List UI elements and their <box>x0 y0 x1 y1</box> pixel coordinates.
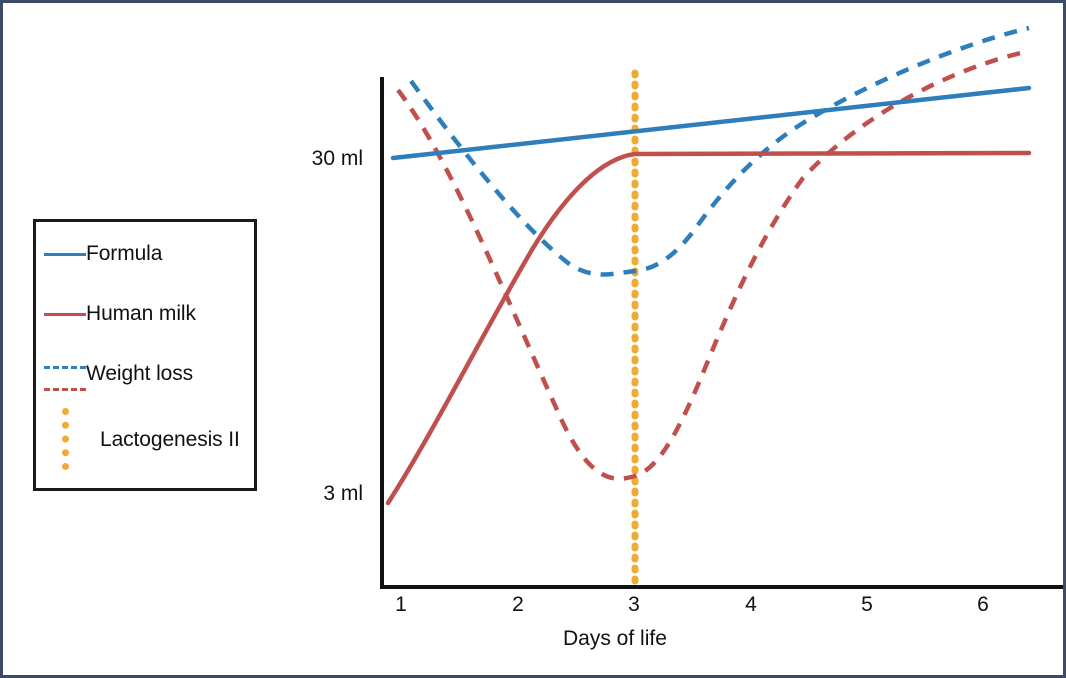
chart-legend: Formula Human milk Weight loss Lactogene… <box>33 219 257 491</box>
legend-swatch-formula <box>44 242 86 266</box>
x-tick-label-1: 1 <box>389 593 413 617</box>
series-human-milk <box>388 153 1029 503</box>
legend-item-formula[interactable]: Formula <box>36 234 254 274</box>
x-tick-label-2: 2 <box>506 593 530 617</box>
chart-figure: 30 ml 3 ml Volume ingested 1 2 3 4 5 6 D… <box>0 0 1066 678</box>
x-axis-title: Days of life <box>563 627 667 651</box>
x-tick-label-5: 5 <box>855 593 879 617</box>
x-tick-label-3: 3 <box>622 593 646 617</box>
legend-swatch-human-milk <box>44 302 86 326</box>
legend-swatch-weight-loss <box>44 362 86 386</box>
legend-item-weight-loss[interactable]: Weight loss <box>36 354 254 394</box>
y-tick-label-3ml: 3 ml <box>243 482 363 506</box>
legend-item-human-milk[interactable]: Human milk <box>36 294 254 334</box>
series-weight-loss-human-milk <box>398 51 1029 479</box>
y-tick-label-30ml: 30 ml <box>243 147 363 171</box>
legend-label-human-milk: Human milk <box>86 302 196 326</box>
legend-swatch-lactogenesis-ii <box>44 428 86 452</box>
legend-label-lactogenesis-ii: Lactogenesis II <box>100 428 240 452</box>
legend-label-weight-loss: Weight loss <box>86 362 193 386</box>
legend-label-formula: Formula <box>86 242 162 266</box>
x-tick-label-4: 4 <box>739 593 763 617</box>
x-tick-label-6: 6 <box>971 593 995 617</box>
series-formula <box>393 88 1029 158</box>
legend-item-lactogenesis-ii[interactable]: Lactogenesis II <box>36 420 254 460</box>
